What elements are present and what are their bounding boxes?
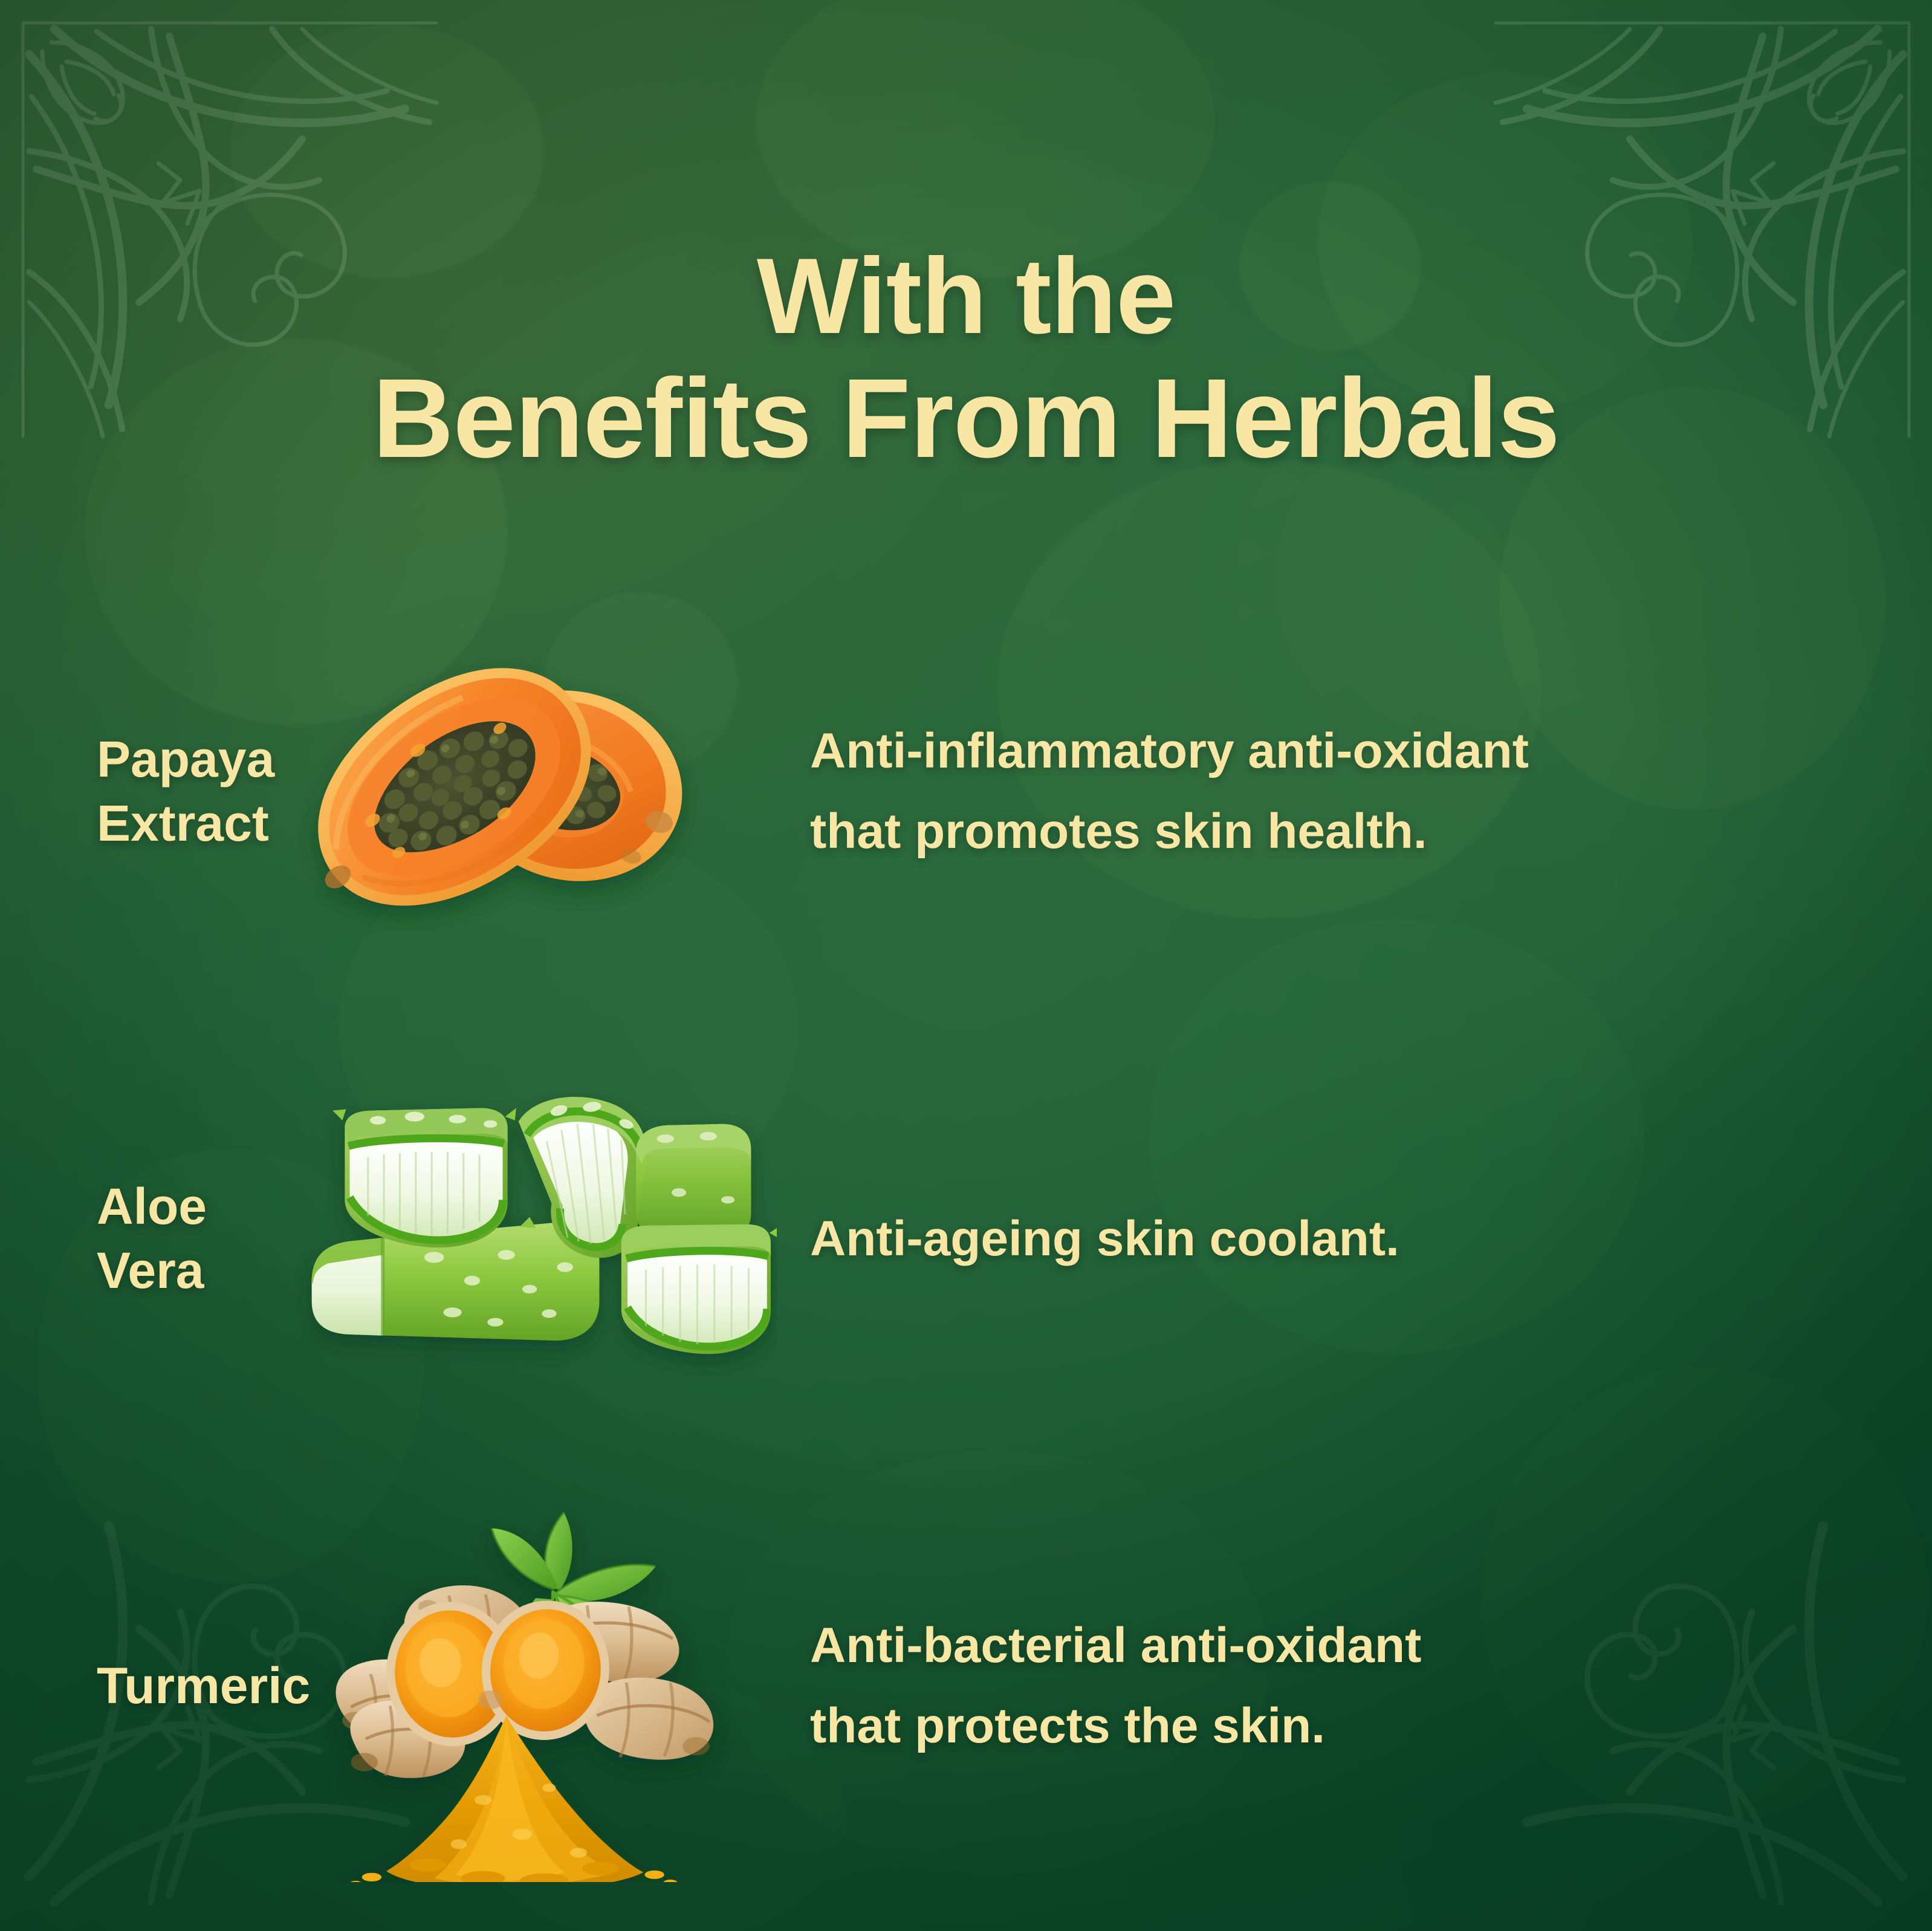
ingredient-description-aloe-vera: Anti-ageing skin coolant. xyxy=(786,1199,1932,1279)
title-line-2: Benefits From Herbals xyxy=(0,356,1932,482)
list-item: Turmeric xyxy=(0,1499,1932,1874)
ingredient-name-papaya: Papaya Extract xyxy=(0,728,266,856)
list-item: Aloe Vera xyxy=(0,1052,1932,1426)
description-line: that promotes skin health. xyxy=(810,792,1859,872)
herbal-benefits-poster: With the Benefits From Herbals Papaya Ex… xyxy=(0,0,1932,1931)
ingredient-name-line: Aloe Vera xyxy=(97,1175,266,1303)
ingredient-name-aloe-vera: Aloe Vera xyxy=(0,1175,266,1303)
list-item: Papaya Extract xyxy=(0,604,1932,979)
page-title: With the Benefits From Herbals xyxy=(0,236,1932,482)
description-line: Anti-bacterial anti-oxidant xyxy=(810,1606,1859,1686)
description-line: that protects the skin. xyxy=(810,1686,1859,1767)
aloe-vera-slices-image xyxy=(266,1052,786,1426)
ingredient-name-line: Extract xyxy=(97,792,266,856)
ingredient-name-turmeric: Turmeric xyxy=(0,1654,266,1718)
ingredient-name-line: Turmeric xyxy=(97,1654,266,1718)
ingredient-name-line: Papaya xyxy=(97,728,266,792)
ingredient-list: Papaya Extract xyxy=(0,604,1932,1874)
ingredient-description-turmeric: Anti-bacterial anti-oxidant that protect… xyxy=(786,1606,1932,1767)
papaya-halves-image xyxy=(266,604,786,979)
title-line-1: With the xyxy=(0,236,1932,356)
description-line: Anti-ageing skin coolant. xyxy=(810,1199,1859,1279)
turmeric-root-and-powder-image xyxy=(266,1499,786,1874)
description-line: Anti-inflammatory anti-oxidant xyxy=(810,711,1859,792)
ingredient-description-papaya: Anti-inflammatory anti-oxidant that prom… xyxy=(786,711,1932,872)
